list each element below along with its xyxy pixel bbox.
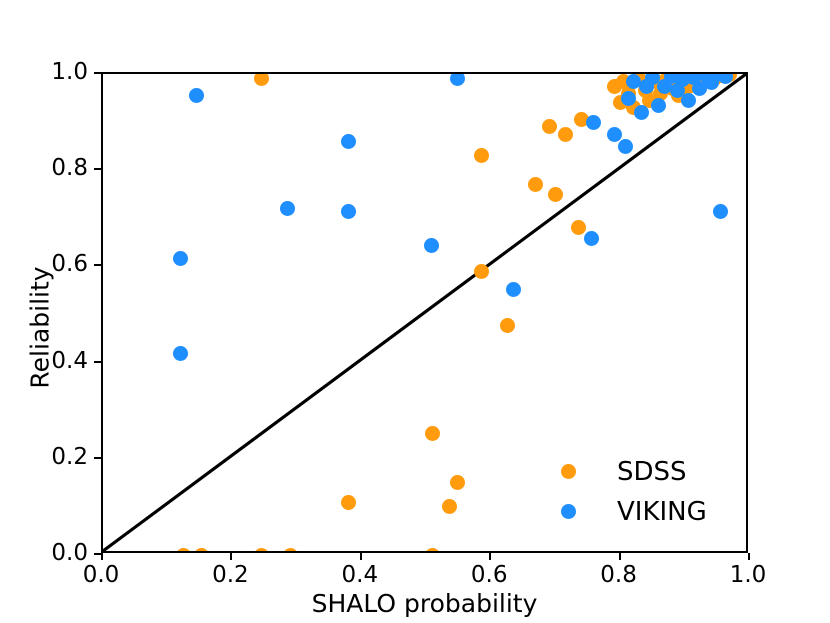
x-tick-label: 0.8 <box>579 561 659 589</box>
y-tick-mark <box>94 72 101 74</box>
legend-marker-viking-icon <box>561 504 576 519</box>
data-point-viking <box>634 105 649 120</box>
x-tick-mark <box>748 553 750 560</box>
data-point-viking <box>341 204 356 219</box>
data-point-sdss <box>283 548 298 552</box>
x-axis-label: SHALO probability <box>101 589 748 618</box>
data-point-viking <box>618 139 633 154</box>
scatter-figure: 0.00.20.40.60.81.0 0.00.20.40.60.81.0 SH… <box>0 0 830 623</box>
legend: SDSS VIKING <box>545 452 745 532</box>
data-point-viking <box>586 115 601 130</box>
y-axis-label: Reliability <box>26 88 55 568</box>
y-tick-mark <box>94 553 101 555</box>
x-tick-label: 0.2 <box>190 561 270 589</box>
legend-item-sdss: SDSS <box>545 452 745 492</box>
data-point-viking <box>450 74 465 86</box>
data-point-sdss <box>341 495 356 510</box>
data-point-sdss <box>474 148 489 163</box>
data-point-sdss <box>425 426 440 441</box>
data-point-sdss <box>548 187 563 202</box>
data-point-viking <box>713 204 728 219</box>
x-tick-mark <box>230 553 232 560</box>
data-point-viking <box>681 93 696 108</box>
x-tick-label: 0.6 <box>449 561 529 589</box>
x-tick-mark <box>619 553 621 560</box>
data-point-sdss <box>425 548 440 552</box>
data-point-viking <box>506 282 521 297</box>
x-tick-mark <box>489 553 491 560</box>
data-point-viking <box>424 238 439 253</box>
legend-label-viking: VIKING <box>617 492 707 532</box>
legend-label-sdss: SDSS <box>617 452 687 492</box>
data-point-viking <box>189 88 204 103</box>
legend-marker-sdss-icon <box>561 464 576 479</box>
data-point-sdss <box>528 177 543 192</box>
data-point-sdss <box>254 548 269 552</box>
data-point-viking <box>651 98 666 113</box>
data-point-sdss <box>176 548 191 552</box>
data-point-sdss <box>450 475 465 490</box>
x-tick-label: 0.4 <box>320 561 400 589</box>
data-point-sdss <box>442 499 457 514</box>
y-tick-mark <box>94 361 101 363</box>
y-tick-mark <box>94 168 101 170</box>
data-point-sdss <box>542 119 557 134</box>
data-point-sdss <box>558 127 573 142</box>
data-point-sdss <box>474 264 489 279</box>
data-point-sdss <box>500 318 515 333</box>
legend-item-viking: VIKING <box>545 492 745 532</box>
y-tick-label: 1.0 <box>6 58 88 86</box>
data-point-viking <box>584 231 599 246</box>
data-point-sdss <box>254 74 269 86</box>
data-point-viking <box>621 91 636 106</box>
data-point-viking <box>607 127 622 142</box>
data-point-viking <box>173 251 188 266</box>
y-tick-mark <box>94 457 101 459</box>
x-tick-mark <box>101 553 103 560</box>
y-tick-mark <box>94 264 101 266</box>
x-tick-label: 1.0 <box>708 561 788 589</box>
data-point-viking <box>280 201 295 216</box>
data-point-viking <box>341 134 356 149</box>
data-point-sdss <box>194 548 209 552</box>
x-tick-mark <box>360 553 362 560</box>
data-point-viking <box>173 346 188 361</box>
data-point-sdss <box>571 220 586 235</box>
